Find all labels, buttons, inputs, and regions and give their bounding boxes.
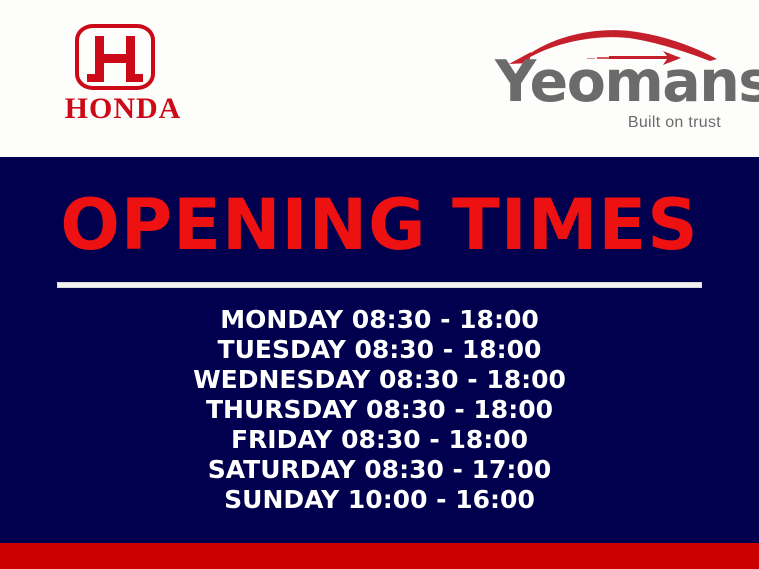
hours-row: TUESDAY 08:30 - 18:00 [0,335,759,365]
hours-row: FRIDAY 08:30 - 18:00 [0,425,759,455]
hours-row: WEDNESDAY 08:30 - 18:00 [0,365,759,395]
hours-row: THURSDAY 08:30 - 18:00 [0,395,759,425]
honda-h-crossbar [95,54,135,63]
honda-h-foot-right [126,74,143,82]
opening-hours-list: MONDAY 08:30 - 18:00 TUESDAY 08:30 - 18:… [0,305,759,515]
yeomans-wordmark: Yeomans [495,54,759,111]
title-divider [57,282,702,288]
honda-wordmark: HONDA [48,94,198,124]
opening-times-poster: HONDA Yeomans Built on trust OPENING TIM… [0,0,759,569]
honda-h-emblem-icon [75,24,155,90]
hours-row: SUNDAY 10:00 - 16:00 [0,485,759,515]
yeomans-logo: Yeomans Built on trust [495,26,723,126]
honda-h-foot-left [87,74,104,82]
yeomans-tagline: Built on trust [628,115,721,131]
hours-row: SATURDAY 08:30 - 17:00 [0,455,759,485]
logo-header-band: HONDA Yeomans Built on trust [0,0,759,157]
hours-row: MONDAY 08:30 - 18:00 [0,305,759,335]
page-title: OPENING TIMES [0,190,759,260]
honda-logo: HONDA [48,24,198,124]
footer-accent-bar [0,543,759,569]
